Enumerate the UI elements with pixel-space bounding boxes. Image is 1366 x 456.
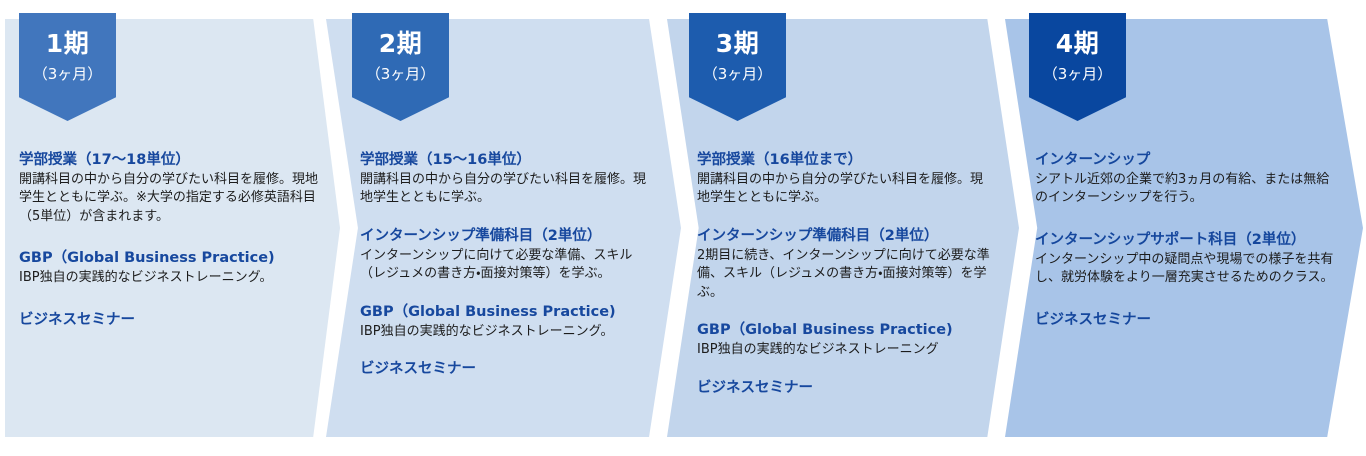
phase-term-label: 2期 (352, 13, 449, 56)
phase-term-label: 3期 (689, 13, 786, 56)
content-block: インターンシップ準備科目（2単位） 2期目に続き、インターンシップに向けて必要な… (697, 226, 995, 302)
block-heading: ビジネスセミナー (1035, 310, 1335, 330)
content-block: ビジネスセミナー (360, 359, 656, 379)
content-block: ビジネスセミナー (19, 310, 319, 330)
block-heading: ビジネスセミナー (19, 310, 319, 330)
phase-duration-label: （3ヶ月） (19, 56, 116, 82)
phase-content-2: 学部授業（15〜16単位） 開講科目の中から自分の学びたい科目を履修。現地学生と… (360, 150, 656, 380)
block-heading: インターンシップサポート科目（2単位） (1035, 230, 1335, 250)
content-block: 学部授業（16単位まで） 開講科目の中から自分の学びたい科目を履修。現地学生とと… (697, 150, 995, 208)
block-heading: GBP（Global Business Practice) (360, 302, 656, 322)
block-body: 開講科目の中から自分の学びたい科目を履修。現地学生とともに学ぶ。 (697, 171, 995, 208)
block-heading: 学部授業（16単位まで） (697, 150, 995, 170)
phase-duration-label: （3ヶ月） (689, 56, 786, 82)
phase-content-1: 学部授業（17〜18単位） 開講科目の中から自分の学びたい科目を履修。現地学生と… (19, 150, 319, 331)
phase-content-4: インターンシップ シアトル近郊の企業で約3ヵ月の有給、または無給のインターンシッ… (1035, 150, 1335, 331)
block-body: 2期目に続き、インターンシップに向けて必要な準備、スキル（レジュメの書き方・面接… (697, 247, 995, 302)
content-block: インターンシップサポート科目（2単位） インターンシップ中の疑問点や現場での様子… (1035, 230, 1335, 288)
block-body: IBP独自の実践的なビジネストレーニング。 (360, 323, 656, 341)
block-heading: インターンシップ準備科目（2単位） (360, 226, 656, 246)
content-block: GBP（Global Business Practice) IBP独自の実践的な… (19, 248, 319, 287)
block-heading: インターンシップ (1035, 150, 1335, 170)
content-block: インターンシップ シアトル近郊の企業で約3ヵ月の有給、または無給のインターンシッ… (1035, 150, 1335, 208)
block-heading: ビジネスセミナー (697, 378, 995, 398)
block-heading: 学部授業（15〜16単位） (360, 150, 656, 170)
block-heading: ビジネスセミナー (360, 359, 656, 379)
phase-panel-3: 3期 （3ヶ月） 学部授業（16単位まで） 開講科目の中から自分の学びたい科目を… (667, 19, 1019, 437)
process-diagram: 1期 （3ヶ月） 学部授業（17〜18単位） 開講科目の中から自分の学びたい科目… (0, 0, 1366, 456)
content-block: 学部授業（17〜18単位） 開講科目の中から自分の学びたい科目を履修。現地学生と… (19, 150, 319, 226)
content-block: インターンシップ準備科目（2単位） インターンシップに向けて必要な準備、スキル（… (360, 226, 656, 284)
phase-panel-4: 4期 （3ヶ月） インターンシップ シアトル近郊の企業で約3ヵ月の有給、または無… (1005, 19, 1363, 437)
block-body: 開講科目の中から自分の学びたい科目を履修。現地学生とともに学ぶ。 (360, 171, 656, 208)
phase-duration-label: （3ヶ月） (1029, 56, 1126, 82)
block-body: シアトル近郊の企業で約3ヵ月の有給、または無給のインターンシップを行う。 (1035, 171, 1335, 208)
block-body: IBP独自の実践的なビジネストレーニング (697, 341, 995, 359)
phase-content-3: 学部授業（16単位まで） 開講科目の中から自分の学びたい科目を履修。現地学生とと… (697, 150, 995, 399)
phase-duration-label: （3ヶ月） (352, 56, 449, 82)
block-body: インターンシップ中の疑問点や現場での様子を共有し、就労体験をより一層充実させるた… (1035, 251, 1335, 288)
block-heading: GBP（Global Business Practice) (697, 320, 995, 340)
phase-term-label: 1期 (19, 13, 116, 56)
block-heading: 学部授業（17〜18単位） (19, 150, 319, 170)
content-block: GBP（Global Business Practice) IBP独自の実践的な… (360, 302, 656, 341)
phase-panel-2: 2期 （3ヶ月） 学部授業（15〜16単位） 開講科目の中から自分の学びたい科目… (326, 19, 681, 437)
content-block: ビジネスセミナー (1035, 310, 1335, 330)
content-block: 学部授業（15〜16単位） 開講科目の中から自分の学びたい科目を履修。現地学生と… (360, 150, 656, 208)
phase-panel-1: 1期 （3ヶ月） 学部授業（17〜18単位） 開講科目の中から自分の学びたい科目… (5, 19, 340, 437)
block-body: インターンシップに向けて必要な準備、スキル（レジュメの書き方・面接対策等）を学ぶ… (360, 247, 656, 284)
block-body: 開講科目の中から自分の学びたい科目を履修。現地学生とともに学ぶ。※大学の指定する… (19, 171, 319, 226)
content-block: GBP（Global Business Practice) IBP独自の実践的な… (697, 320, 995, 359)
content-block: ビジネスセミナー (697, 378, 995, 398)
block-heading: インターンシップ準備科目（2単位） (697, 226, 995, 246)
phase-term-label: 4期 (1029, 13, 1126, 56)
block-heading: GBP（Global Business Practice) (19, 248, 319, 268)
block-body: IBP独自の実践的なビジネストレーニング。 (19, 269, 319, 287)
